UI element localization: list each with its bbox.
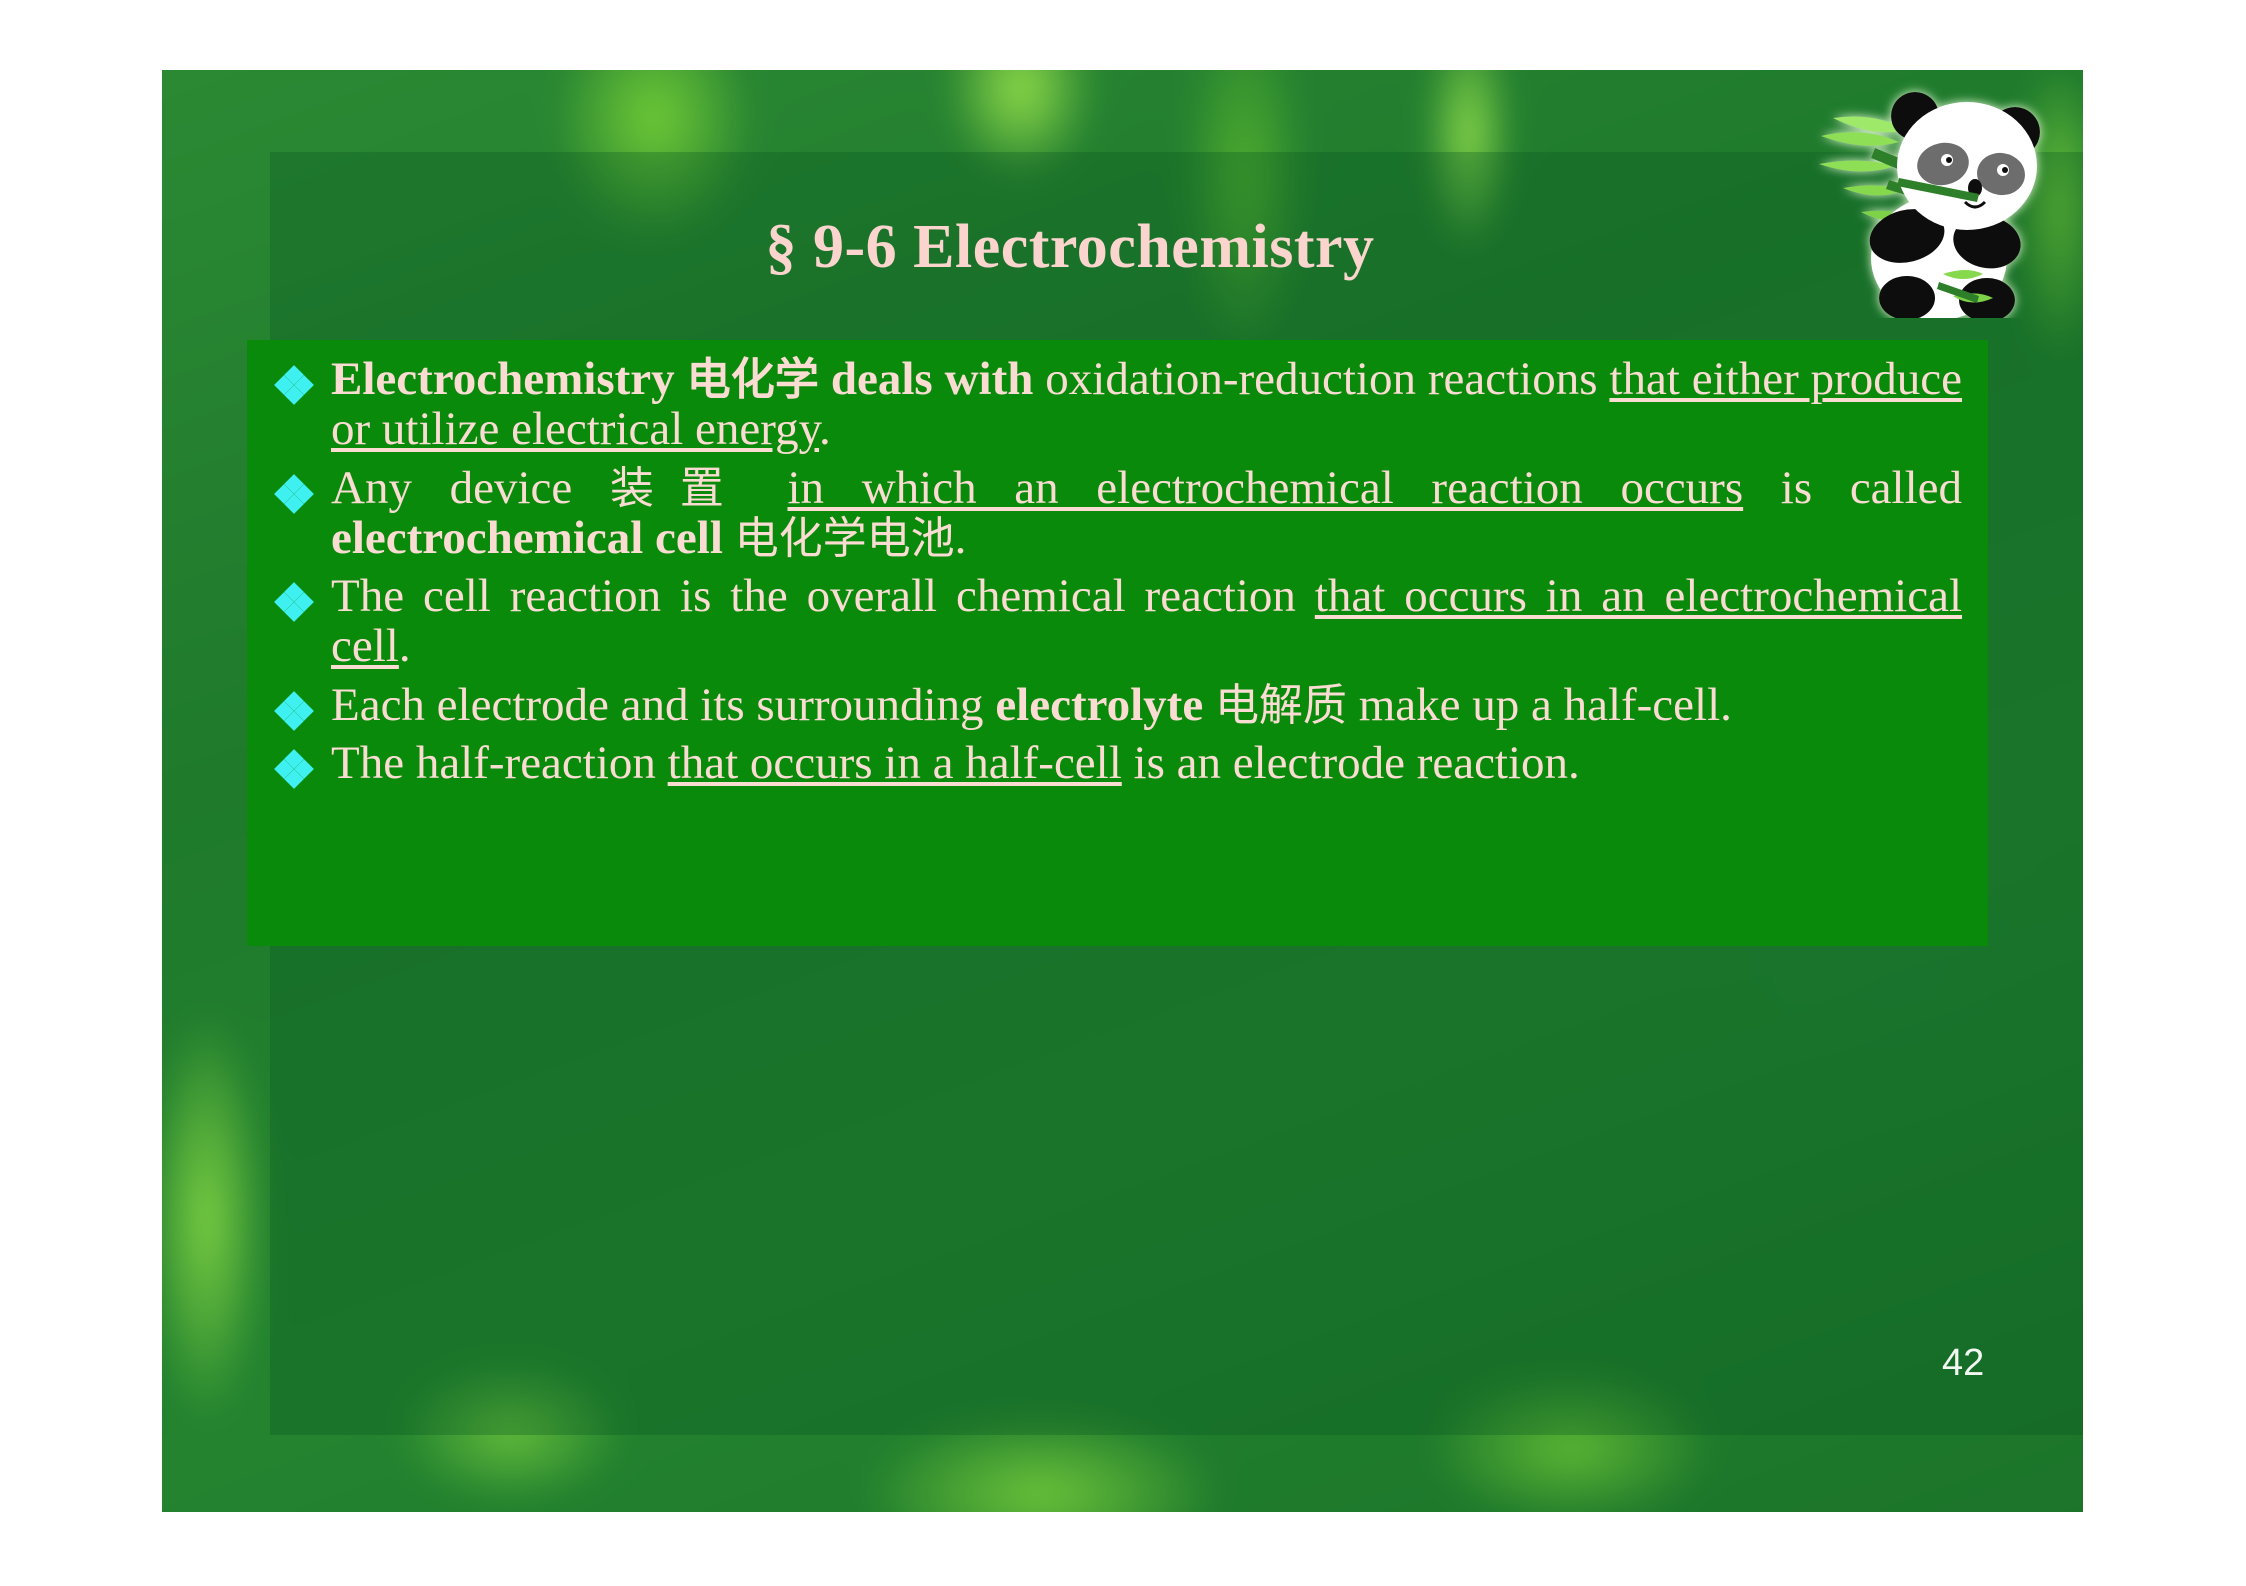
four-diamond-bullet-icon — [277, 368, 311, 402]
bullet-item-4: Each electrode and its surrounding elect… — [247, 680, 1988, 730]
slide-title: § 9-6 Electrochemistry — [270, 212, 1870, 283]
bullet-item-1: Electrochemistry 电化学 deals with oxidatio… — [247, 354, 1988, 455]
slide-canvas: § 9-6 Electrochemistry — [162, 70, 2083, 1512]
body-content-box: Electrochemistry 电化学 deals with oxidatio… — [247, 340, 1988, 946]
bullet-item-3: The cell reaction is the overall chemica… — [247, 571, 1988, 672]
bullet-item-5: The half-reaction that occurs in a half-… — [247, 738, 1988, 788]
four-diamond-bullet-icon — [277, 585, 311, 619]
bullet-item-2: Any device 装置 in which an electrochemica… — [247, 463, 1988, 564]
four-diamond-bullet-icon — [277, 694, 311, 728]
page-number: 42 — [1942, 1342, 1984, 1385]
four-diamond-bullet-icon — [277, 752, 311, 786]
bullet-text: The half-reaction that occurs in a half-… — [331, 737, 1580, 789]
bullet-text: The cell reaction is the overall chemica… — [331, 570, 1962, 672]
bullet-text: Each electrode and its surrounding elect… — [331, 679, 1732, 731]
bullet-text: Electrochemistry 电化学 deals with oxidatio… — [331, 353, 1962, 455]
bullet-list: Electrochemistry 电化学 deals with oxidatio… — [247, 354, 1988, 788]
panda-clipart-icon — [1803, 70, 2061, 318]
four-diamond-bullet-icon — [277, 477, 311, 511]
bullet-text: Any device 装置 in which an electrochemica… — [331, 462, 1962, 564]
